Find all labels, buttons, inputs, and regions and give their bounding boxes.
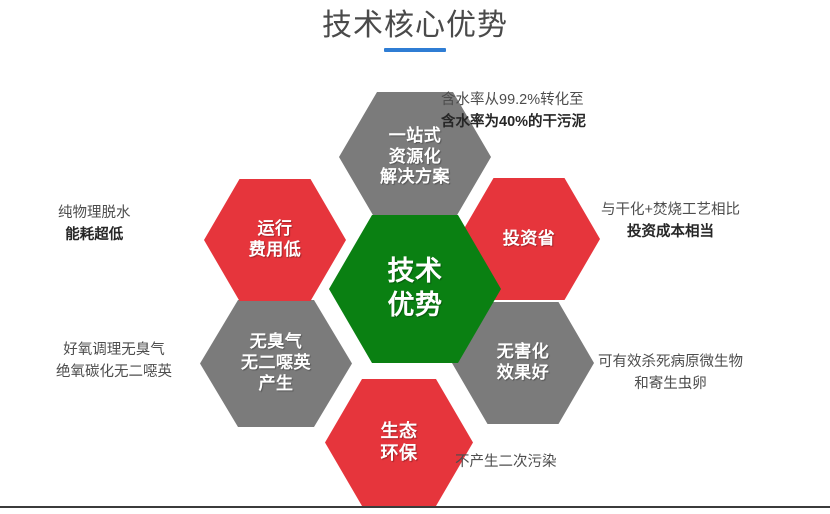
hexagon-label: 生态 环保 bbox=[381, 421, 418, 465]
annotation-pathogen-kill: 可有效杀死病原微生物 和寄生虫卵 bbox=[598, 352, 743, 396]
hexagon-label: 技术 优势 bbox=[388, 255, 443, 323]
annotation-line-2: 绝氧碳化无二噁英 bbox=[56, 362, 172, 384]
annotation-line-1: 好氧调理无臭气 bbox=[56, 340, 172, 362]
annotation-physical-dewatering: 纯物理脱水 能耗超低 bbox=[58, 203, 131, 247]
annotation-moisture-conversion: 含水率从99.2%转化至 含水率为40%的干污泥 bbox=[441, 90, 586, 134]
annotation-line-1: 不产生二次污染 bbox=[455, 452, 557, 474]
hexagon-eco-friendly[interactable]: 生态 环保 bbox=[325, 379, 473, 506]
hexagon-low-operating-cost[interactable]: 运行 费用低 bbox=[204, 179, 346, 301]
hexagon-label: 无臭气 无二噁英 产生 bbox=[241, 332, 311, 394]
annotation-investment-cost: 与干化+焚烧工艺相比 投资成本相当 bbox=[601, 200, 740, 244]
slide-bottom-rule bbox=[0, 506, 830, 508]
hexagon-label: 一站式 资源化 解决方案 bbox=[380, 126, 450, 188]
hexagon-label: 投资省 bbox=[503, 229, 556, 250]
annotation-line-2: 和寄生虫卵 bbox=[598, 374, 743, 396]
slide-canvas: 技术核心优势 一站式 资源化 解决方案 投资省 无害化 效果好 生态 环保 无臭… bbox=[0, 0, 830, 514]
annotation-line-1: 可有效杀死病原微生物 bbox=[598, 352, 743, 374]
hexagon-label: 无害化 效果好 bbox=[497, 342, 550, 383]
annotation-aerobic-anaerobic: 好氧调理无臭气 绝氧碳化无二噁英 bbox=[56, 340, 172, 384]
hexagon-no-odor-no-dioxin[interactable]: 无臭气 无二噁英 产生 bbox=[200, 300, 352, 427]
hexagon-diagram: 一站式 资源化 解决方案 投资省 无害化 效果好 生态 环保 无臭气 无二噁英 … bbox=[0, 0, 830, 514]
annotation-line-2: 能耗超低 bbox=[58, 225, 131, 247]
annotation-line-1: 纯物理脱水 bbox=[58, 203, 131, 225]
annotation-line-2: 含水率为40%的干污泥 bbox=[441, 112, 586, 134]
annotation-line-2: 投资成本相当 bbox=[601, 222, 740, 244]
hexagon-label: 运行 费用低 bbox=[249, 219, 302, 260]
annotation-line-1: 含水率从99.2%转化至 bbox=[441, 90, 586, 112]
annotation-no-secondary-pollution: 不产生二次污染 bbox=[455, 452, 557, 474]
annotation-line-1: 与干化+焚烧工艺相比 bbox=[601, 200, 740, 222]
